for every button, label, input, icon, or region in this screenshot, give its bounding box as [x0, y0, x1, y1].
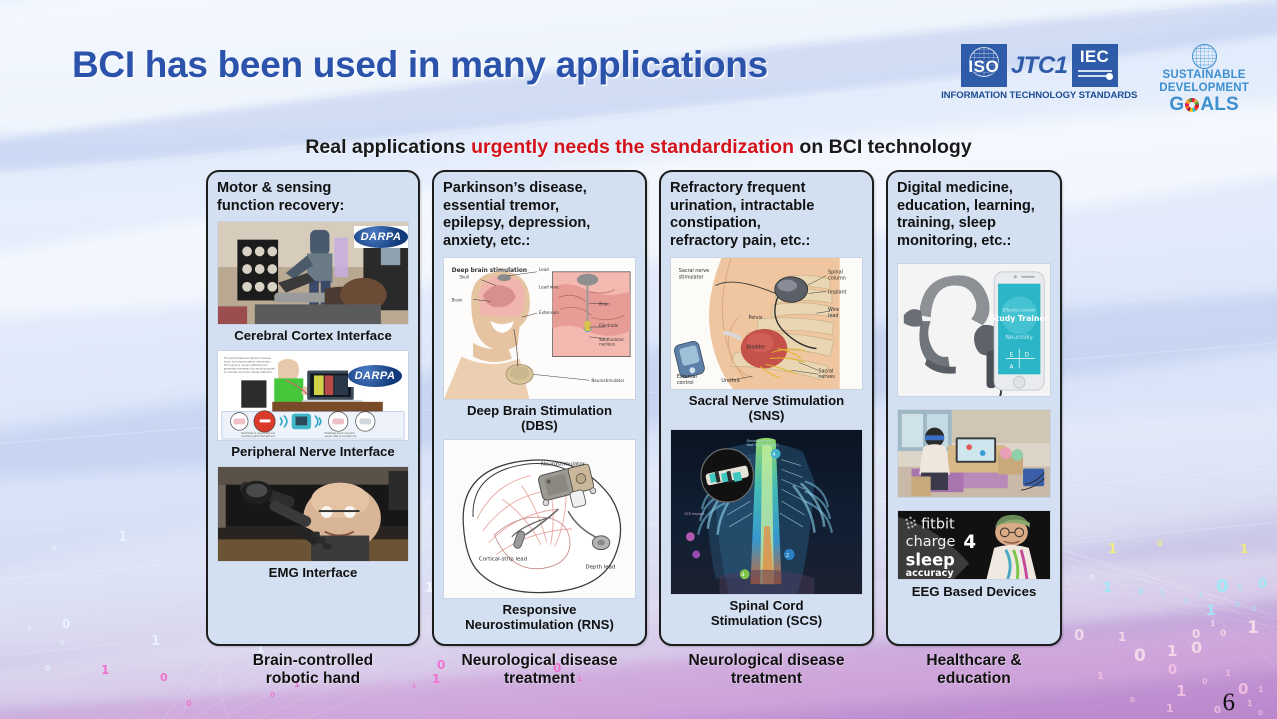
card-heading: Motor & sensing function recovery:: [217, 180, 409, 215]
svg-text:The Central Nervous System rec: The Central Nervous System receives: [224, 356, 272, 360]
svg-text:to muscles via motor nerves (e: to muscles via motor nerves (efferent).: [224, 370, 273, 374]
sdg-logo: SUSTAINABLE DEVELOPMENT G ALS: [1159, 44, 1249, 115]
card-motor-sensing: Motor & sensing function recovery:: [206, 170, 420, 646]
iso-caption: INFORMATION TECHNOLOGY STANDARDS: [941, 90, 1137, 101]
svg-text:charge: charge: [906, 534, 956, 550]
svg-text:Brain: Brain: [452, 297, 463, 302]
svg-text:2: 2: [786, 553, 789, 559]
eeg-headset-and-phone-photo: Effective Learner Study Trainer NeuroSky…: [897, 263, 1051, 397]
svg-text:Brain: Brain: [599, 301, 610, 306]
bottom-label-1: Brain-controlled robotic hand: [206, 652, 420, 688]
card-heading: Refractory frequent urination, intractab…: [670, 180, 863, 251]
card-neuro-dbs-rns: Parkinson’s disease, essential tremor, e…: [432, 170, 647, 646]
svg-text:Neurostimulator: Neurostimulator: [591, 378, 624, 383]
un-emblem-icon: [1192, 44, 1217, 69]
subtitle: Real applications urgently needs the sta…: [0, 136, 1277, 159]
svg-text:Neurostimulator: Neurostimulator: [541, 462, 586, 468]
svg-text:Implant: Implant: [828, 289, 847, 295]
svg-text:muscles (right) intercept and: muscles (right) intercept and: [241, 435, 275, 438]
svg-text:Root Ganglion (DRG): Root Ganglion (DRG): [747, 443, 779, 447]
item-caption: Peripheral Nerve Interface: [217, 445, 409, 460]
jtc1-label: JTC1: [1011, 52, 1068, 80]
svg-text:Extension: Extension: [539, 310, 559, 315]
sdg-goals-label: G ALS: [1169, 95, 1239, 115]
iec-icon: IEC: [1072, 44, 1118, 87]
svg-text:sensor data is encoded into: sensor data is encoded into: [325, 435, 358, 438]
svg-text:Bladder: Bladder: [747, 344, 766, 350]
svg-text:4: 4: [963, 531, 976, 552]
svg-text:Study Trainer: Study Trainer: [990, 314, 1048, 323]
svg-text:Depth lead: Depth lead: [586, 565, 616, 571]
item-caption: Sacral Nerve Stimulation (SNS): [670, 394, 863, 424]
svg-text:Electrode: Electrode: [599, 323, 619, 328]
svg-text:touch and proprioceptive infor: touch and proprioceptive information: [224, 360, 271, 364]
svg-text:NeuroSky: NeuroSky: [1005, 334, 1033, 340]
item-caption: EMG Interface: [217, 566, 409, 581]
card-sns-scs: Refractory frequent urination, intractab…: [659, 170, 874, 646]
svg-text:D: D: [1025, 352, 1030, 358]
card-heading: Digital medicine, education, learning, t…: [897, 180, 1051, 251]
item-caption: Cerebral Cortex Interface: [217, 329, 409, 344]
svg-text:4: 4: [772, 452, 775, 458]
svg-text:A: A: [1010, 364, 1014, 370]
iso-icon: ISO: [961, 44, 1007, 87]
svg-text:Pelvis: Pelvis: [749, 315, 763, 321]
bottom-label-2: Neurological disease treatment: [432, 652, 647, 688]
svg-text:Deep brain stimulation: Deep brain stimulation: [452, 267, 527, 273]
iso-jtc1-iec-logo: ISO JTC1 IEC INFORMATION TECHNOLOGY STAN…: [941, 44, 1137, 101]
card-heading: Parkinson’s disease, essential tremor, e…: [443, 180, 636, 251]
svg-text:Sacral nerve: Sacral nerve: [679, 267, 709, 273]
svg-text:from sensory nerves (afferent): from sensory nerves (afferent) and: [224, 363, 268, 367]
darpa-badge: DARPA: [348, 365, 402, 387]
responsive-neurostimulation-diagram: Neurostimulator Cortical-strip lead Dept…: [443, 439, 636, 599]
svg-text:Cortical-strip lead: Cortical-strip lead: [479, 557, 527, 563]
svg-text:Skull: Skull: [460, 274, 470, 279]
svg-text:Urethra: Urethra: [721, 378, 739, 384]
bottom-label-3: Neurological disease treatment: [659, 652, 874, 688]
cerebral-cortex-interface-photo: DARPA: [217, 221, 409, 325]
svg-text:fitbit: fitbit: [921, 516, 955, 532]
child-eeg-training-photo: [897, 409, 1051, 498]
fitbit-sleep-accuracy-thumbnail: fitbit charge 4 sleep accuracy: [897, 510, 1051, 580]
sacral-nerve-stimulation-diagram: Sacral nerve stimulator Spinal column Im…: [670, 257, 863, 390]
svg-text:Lead: Lead: [539, 266, 549, 271]
page-number: 6: [1223, 689, 1236, 717]
logo-group: ISO JTC1 IEC INFORMATION TECHNOLOGY STAN…: [941, 44, 1249, 115]
emg-interface-photo: [217, 466, 409, 562]
svg-text:SCS Implant: SCS Implant: [685, 512, 706, 516]
peripheral-nerve-interface-diagram: The Central Nervous System receives touc…: [217, 350, 409, 441]
svg-text:Effective Learner: Effective Learner: [1003, 307, 1036, 312]
item-caption: Deep Brain Stimulation (DBS): [443, 404, 636, 434]
svg-text:control: control: [677, 380, 694, 386]
svg-text:4: 4: [741, 573, 744, 579]
darpa-badge: DARPA: [354, 226, 408, 248]
svg-text:stimulator: stimulator: [679, 274, 704, 280]
svg-text:accuracy: accuracy: [906, 568, 955, 579]
svg-text:nucleus: nucleus: [599, 341, 615, 346]
deep-brain-stimulation-diagram: Deep brain stimulation: [443, 257, 636, 400]
svg-text:column: column: [828, 275, 846, 281]
sdg-line1: SUSTAINABLE: [1163, 69, 1246, 82]
spinal-cord-stimulation-render: 4 2 4 SCS Implant Dorsal Root and: [670, 429, 863, 595]
svg-text:Lead wire: Lead wire: [539, 284, 559, 289]
svg-text:E: E: [1010, 352, 1014, 358]
application-cards: Motor & sensing function recovery:: [206, 170, 1062, 646]
svg-text:generates movement by sending: generates movement by sending signals: [224, 367, 276, 371]
svg-text:sleep: sleep: [906, 550, 955, 569]
item-caption: EEG Based Devices: [897, 585, 1051, 600]
bottom-label-4: Healthcare & education: [886, 652, 1062, 688]
svg-text:nerves: nerves: [818, 374, 835, 380]
svg-text:lead: lead: [828, 313, 838, 319]
sdg-color-wheel-icon: [1185, 98, 1199, 112]
item-caption: Responsive Neurostimulation (RNS): [443, 603, 636, 633]
subtitle-before: Real applications: [305, 136, 471, 158]
bottom-labels: Brain-controlled robotic hand Neurologic…: [206, 652, 1062, 688]
item-caption: Spinal Cord Stimulation (SCS): [670, 599, 863, 629]
subtitle-after: on BCI technology: [794, 136, 972, 158]
card-digital-medicine: Digital medicine, education, learning, t…: [886, 170, 1062, 646]
subtitle-highlight: urgently needs the standardization: [471, 136, 794, 158]
page-title: BCI has been used in many applications: [72, 44, 768, 86]
